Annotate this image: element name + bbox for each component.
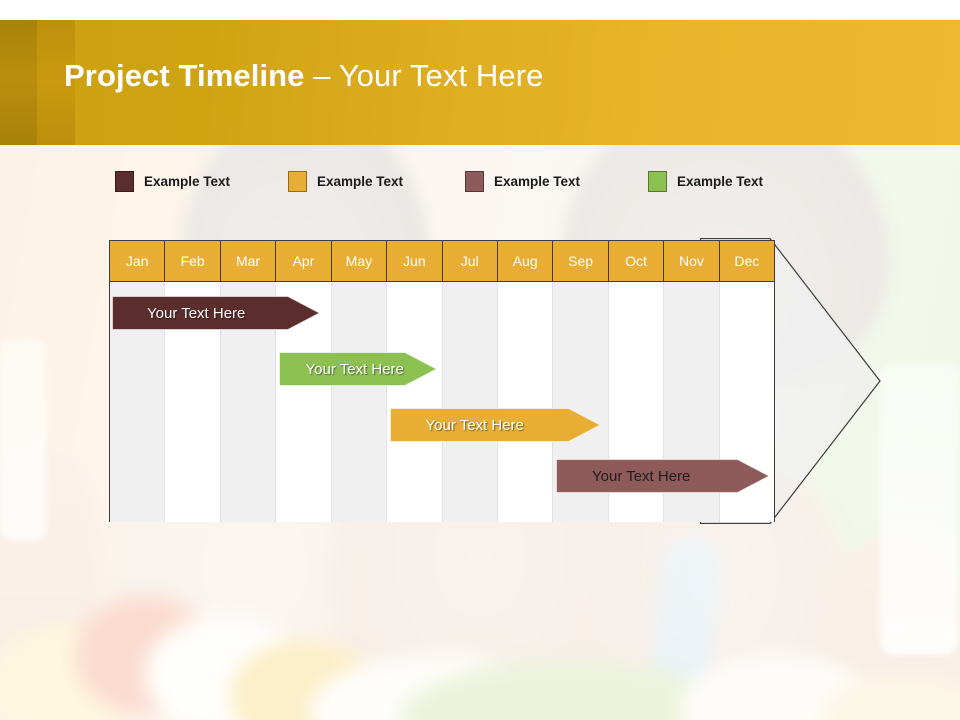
task-bar-4[interactable]: Your Text Here — [556, 459, 769, 493]
task-bar-label-2: Your Text Here — [279, 352, 437, 386]
month-header-row: Jan Feb Mar Apr May Jun Jul Aug Sep Oct … — [110, 241, 774, 281]
month-cell-jul[interactable]: Jul — [443, 241, 498, 281]
legend-swatch-rose — [465, 171, 484, 192]
task-bar-1[interactable]: Your Text Here — [112, 296, 320, 330]
task-bar-3[interactable]: Your Text Here — [390, 408, 601, 442]
month-cell-may[interactable]: May — [332, 241, 387, 281]
slide-canvas: Project Timeline – Your Text Here Exampl… — [0, 0, 960, 720]
legend: Example Text Example Text Example Text E… — [0, 168, 960, 194]
month-cell-feb[interactable]: Feb — [165, 241, 220, 281]
task-bar-label-3: Your Text Here — [390, 408, 601, 442]
month-cell-jan[interactable]: Jan — [110, 241, 165, 281]
month-cell-apr[interactable]: Apr — [276, 241, 331, 281]
legend-item-2[interactable]: Example Text — [288, 168, 403, 194]
month-cell-sep[interactable]: Sep — [553, 241, 608, 281]
legend-swatch-gold — [288, 171, 307, 192]
legend-swatch-green — [648, 171, 667, 192]
column-jun — [387, 282, 442, 522]
legend-item-1[interactable]: Example Text — [115, 168, 230, 194]
page-title: Project Timeline – Your Text Here — [64, 58, 543, 94]
column-jul — [443, 282, 498, 522]
legend-label-1: Example Text — [144, 174, 230, 189]
page-title-light: Your Text Here — [339, 58, 544, 93]
legend-item-4[interactable]: Example Text — [648, 168, 763, 194]
legend-label-3: Example Text — [494, 174, 580, 189]
task-bar-2[interactable]: Your Text Here — [279, 352, 437, 386]
month-cell-aug[interactable]: Aug — [498, 241, 553, 281]
legend-swatch-maroon — [115, 171, 134, 192]
month-cell-dec[interactable]: Dec — [720, 241, 774, 281]
task-bar-label-4: Your Text Here — [556, 459, 769, 493]
page-title-separator: – — [305, 58, 339, 93]
month-cell-mar[interactable]: Mar — [221, 241, 276, 281]
page-title-bold: Project Timeline — [64, 58, 305, 93]
legend-label-2: Example Text — [317, 174, 403, 189]
column-may — [332, 282, 387, 522]
task-bar-label-1: Your Text Here — [112, 296, 320, 330]
legend-label-4: Example Text — [677, 174, 763, 189]
month-cell-nov[interactable]: Nov — [664, 241, 719, 281]
legend-item-3[interactable]: Example Text — [465, 168, 580, 194]
month-cell-oct[interactable]: Oct — [609, 241, 664, 281]
column-aug — [498, 282, 553, 522]
month-cell-jun[interactable]: Jun — [387, 241, 442, 281]
title-bar-accent-dark — [0, 20, 37, 145]
